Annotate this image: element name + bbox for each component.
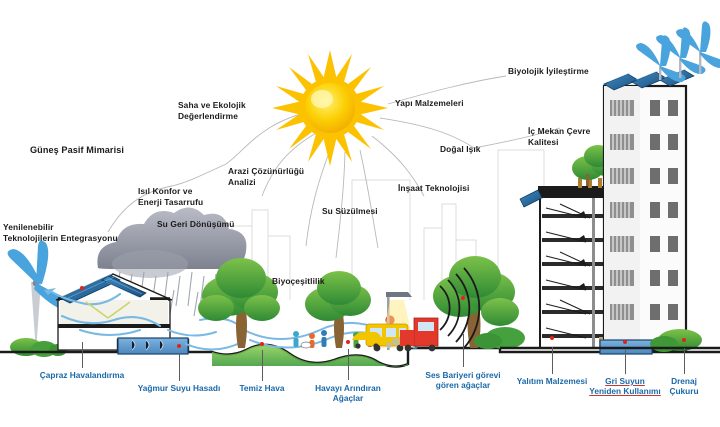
leader-gri-suyun-yeniden	[625, 350, 626, 374]
leader-temiz-hava	[262, 350, 263, 381]
marker-yagmur-suyu-hasadi	[177, 344, 181, 348]
sun-icon	[272, 50, 388, 166]
leader-yalitim-malzemesi	[552, 347, 553, 374]
marker-gri-suyun-yeniden	[623, 340, 627, 344]
leader-capraz-havalandirma	[82, 342, 83, 368]
callout-gri-suyun-yeniden: Gri Suyun Yeniden Kullanımı	[589, 376, 660, 396]
rooftop-wind-turbines-icon	[636, 21, 720, 82]
callout-capraz-havalandirma: Çapraz Havalandırma	[40, 370, 124, 380]
label-biyocesitlilik: Biyoçeşitlilik	[272, 276, 325, 287]
marker-capraz-havalandirma	[80, 286, 84, 290]
label-su-suzulmesi: Su Süzülmesi	[322, 206, 378, 217]
leader-yagmur-suyu-hasadi	[179, 353, 180, 381]
label-yenilenebilir-teknolojiler: Yenilenebilir Teknolojilerin Entegrasyon…	[3, 222, 118, 243]
leader-drenaj-cukuru	[684, 348, 685, 374]
infographic-canvas: Güneş Pasif Mimarisi Yenilenebilir Tekno…	[0, 0, 720, 427]
callout-drenaj-cukuru: Drenaj Çukuru	[666, 376, 702, 396]
label-dogal-isik: Doğal Işık	[440, 144, 481, 155]
marker-ses-bariyeri	[461, 296, 465, 300]
callout-temiz-hava: Temiz Hava	[239, 383, 284, 393]
label-saha-ve-ekolojik: Saha ve Ekolojik Değerlendirme	[178, 100, 246, 121]
label-su-geri-donusumu: Su Geri Dönüşümü	[157, 219, 234, 230]
label-biyolojik-iyilestirme: Biyolojik İyileştirme	[508, 66, 589, 77]
label-gunes-pasif-mimarisi: Güneş Pasif Mimarisi	[30, 145, 124, 156]
callout-yagmur-suyu-hasadi: Yağmur Suyu Hasadı	[138, 383, 221, 393]
label-insaat-teknolojisi: İnşaat Teknolojisi	[398, 183, 469, 194]
solar-panel-icon	[520, 190, 542, 207]
callout-yalitim-malzemesi: Yalıtım Malzemesi	[517, 376, 588, 386]
callout-havayi-arindiran: Havayı Arındıran Ağaçlar	[315, 383, 381, 403]
leader-havayi-arindiran	[348, 349, 349, 380]
callout-ses-bariyeri: Ses Bariyeri görevi gören ağaçlar	[425, 370, 500, 390]
leader-ses-bariyeri	[463, 334, 464, 367]
marker-yalitim-malzemesi	[550, 336, 554, 340]
label-ic-mekan-cevre: İç Mekan Çevre Kalitesi	[528, 126, 590, 147]
label-isil-konfor: Isıl Konfor ve Enerji Tasarrufu	[138, 186, 203, 207]
label-arazi-cozunurlugu: Arazi Çözünürlüğü Analizi	[228, 166, 304, 187]
marker-havayi-arindiran	[346, 340, 350, 344]
marker-drenaj-cukuru	[682, 338, 686, 342]
label-yapi-malzemeleri: Yapı Malzemeleri	[395, 98, 464, 109]
marker-temiz-hava	[260, 342, 264, 346]
building-facade-icon	[604, 21, 720, 350]
